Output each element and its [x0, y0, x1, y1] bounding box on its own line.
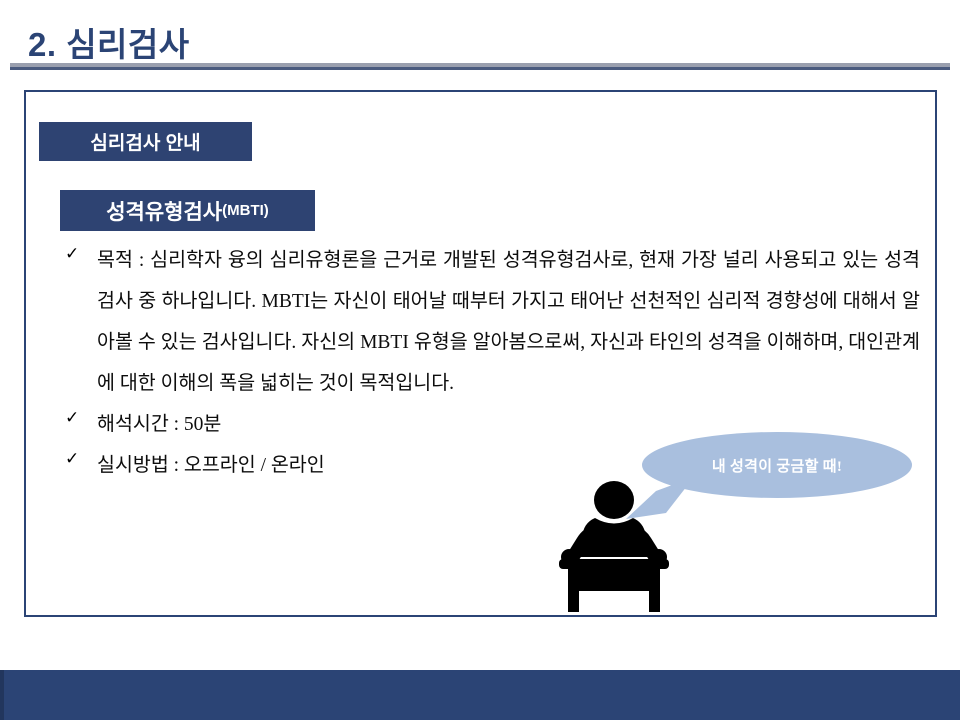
- content-panel: 심리검사 안내 성격유형검사(MBTI) ✓ 목적 : 심리학자 융의 심리유형…: [24, 90, 937, 617]
- list-item-text: 목적 : 심리학자 융의 심리유형론을 근거로 개발된 성격유형검사로, 현재 …: [97, 240, 920, 404]
- badge-test-label: 성격유형검사: [106, 196, 222, 226]
- check-icon: ✓: [65, 410, 81, 426]
- badge-test-sublabel: (MBTI): [222, 202, 269, 219]
- speech-bubble: 내 성격이 궁금할 때!: [642, 432, 912, 498]
- footer-bar-edge: [0, 670, 4, 720]
- speech-bubble-text: 내 성격이 궁금할 때!: [712, 455, 842, 476]
- footer-bar: [0, 670, 960, 720]
- title-divider-bottom: [10, 67, 950, 70]
- check-icon: ✓: [65, 451, 81, 467]
- list-item: ✓ 목적 : 심리학자 융의 심리유형론을 근거로 개발된 성격유형검사로, 현…: [62, 240, 920, 404]
- page-title: 2. 심리검사: [28, 18, 190, 66]
- badge-section-label: 심리검사 안내: [90, 128, 200, 155]
- title-divider: [10, 63, 950, 70]
- check-icon: ✓: [65, 246, 81, 262]
- badge-section-heading: 심리검사 안내: [39, 122, 252, 161]
- badge-test-heading: 성격유형검사(MBTI): [60, 190, 315, 231]
